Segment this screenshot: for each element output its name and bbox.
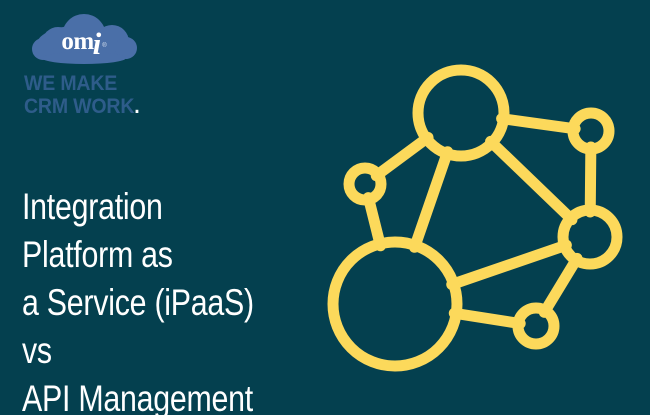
large-node-bottom-left-icon [333,242,457,366]
small-node-bottom-icon [518,308,554,344]
small-node-left-icon [349,168,381,200]
network-edge [454,313,520,323]
network-nodes-illustration [325,45,650,385]
brand-tagline: WE MAKE CRM WORK. [24,72,190,118]
cloud-logo-icon [22,14,146,66]
network-edge [544,258,577,312]
promo-banner: omi® WE MAKE CRM WORK. Integration Platf… [0,0,650,415]
network-edge [491,141,572,219]
medium-node-right-icon [563,210,617,264]
small-node-top-right-icon [573,113,609,149]
network-edge [502,119,576,129]
tagline-period: . [134,95,139,118]
page-title: Integration Platform as a Service (iPaaS… [22,183,278,415]
network-edge [590,147,591,212]
logo[interactable]: omi® [22,14,146,66]
network-svg [325,45,650,385]
network-edge [376,137,428,175]
network-edge [452,245,567,284]
tagline-text: WE MAKE CRM WORK [24,72,134,118]
large-node-top-icon [418,70,504,156]
brand-block: omi® WE MAKE CRM WORK. [22,14,202,118]
network-edge [415,152,448,248]
